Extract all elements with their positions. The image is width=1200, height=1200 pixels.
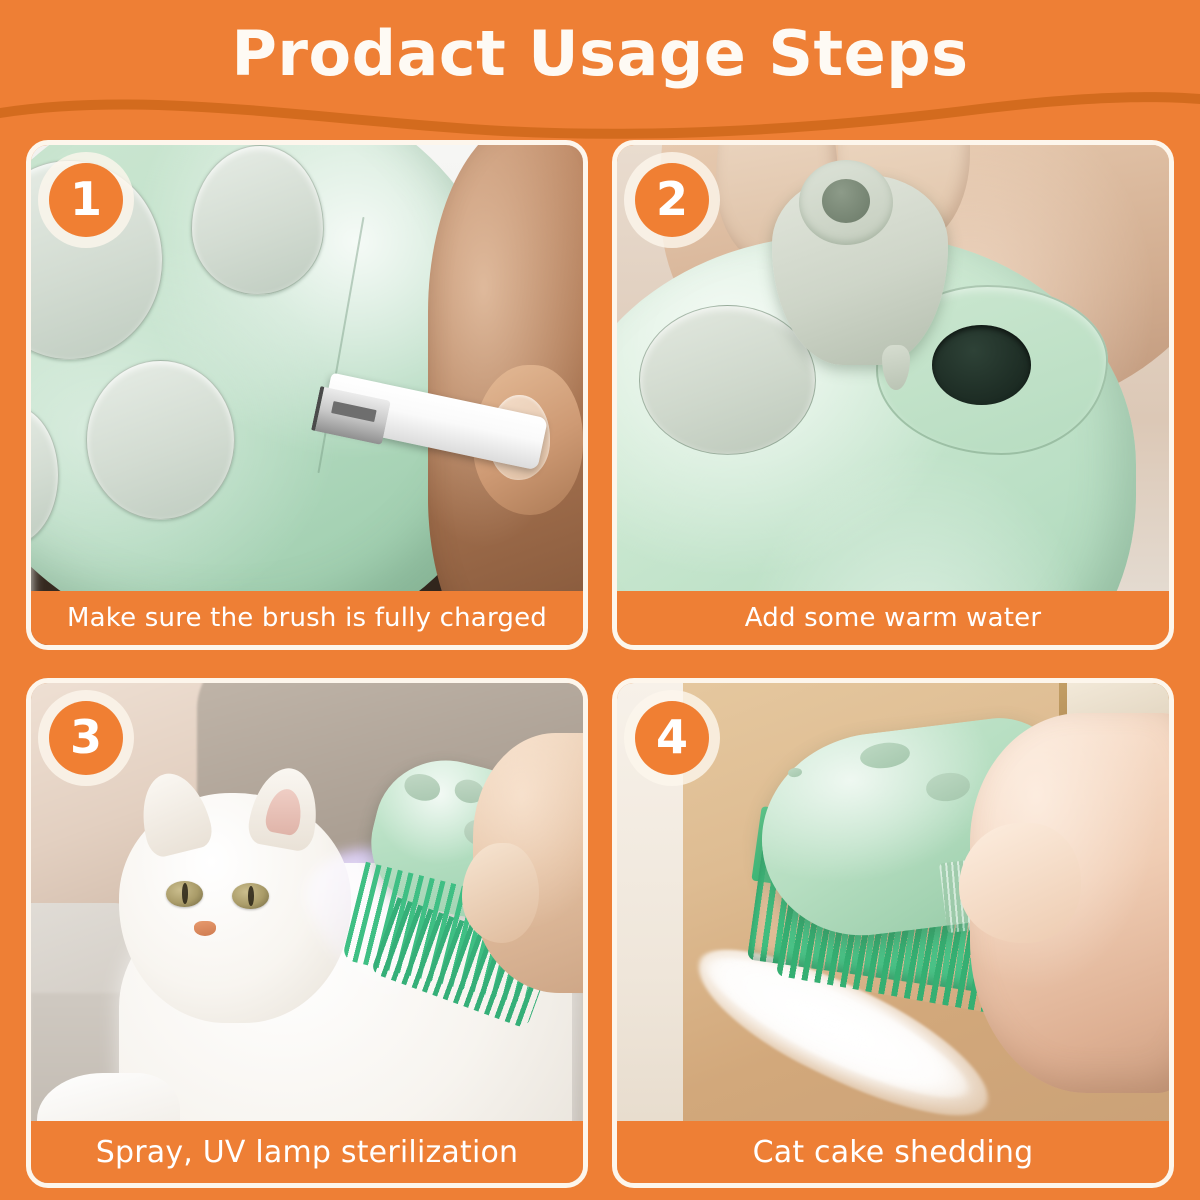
step-card-4[interactable]: 4 Cat cake shedding [612,678,1174,1188]
step-number: 4 [656,714,688,760]
step-number: 3 [70,714,102,760]
step-badge-3: 3 [49,701,123,775]
step-caption-text: Add some warm water [745,603,1042,633]
cat-eye-left [166,881,202,907]
step-card-1[interactable]: 1 Make sure the brush is fully charged [26,140,588,650]
header-wave-decoration [0,78,1200,140]
steps-grid: 1 Make sure the brush is fully charged 2… [26,140,1174,1188]
step-number: 1 [70,176,102,222]
paw-pad [402,770,444,804]
step-badge-1: 1 [49,163,123,237]
stopper-spout [799,160,893,245]
step-caption-bar-4: Cat cake shedding [617,1121,1169,1183]
cat-eye-right [232,883,268,909]
step-card-3[interactable]: 3 Spray, UV lamp sterilization [26,678,588,1188]
paw-pad [86,360,235,520]
step-caption-bar-3: Spray, UV lamp sterilization [31,1121,583,1183]
step-badge-4: 4 [635,701,709,775]
step-caption-text: Spray, UV lamp sterilization [96,1135,519,1170]
step-caption-bar-1: Make sure the brush is fully charged [31,591,583,645]
water-fill-hole [932,325,1031,405]
cat-nose [194,921,216,936]
step-caption-text: Make sure the brush is fully charged [67,603,547,633]
page-header: Prodact Usage Steps [0,0,1200,140]
step-card-2[interactable]: 2 Add some warm water [612,140,1174,650]
step-caption-bar-2: Add some warm water [617,591,1169,645]
human-thumb [462,843,539,943]
human-finger [959,823,1080,943]
step-badge-2: 2 [635,163,709,237]
step-number: 2 [656,176,688,222]
step-caption-text: Cat cake shedding [753,1135,1034,1170]
paw-pad [639,305,816,455]
